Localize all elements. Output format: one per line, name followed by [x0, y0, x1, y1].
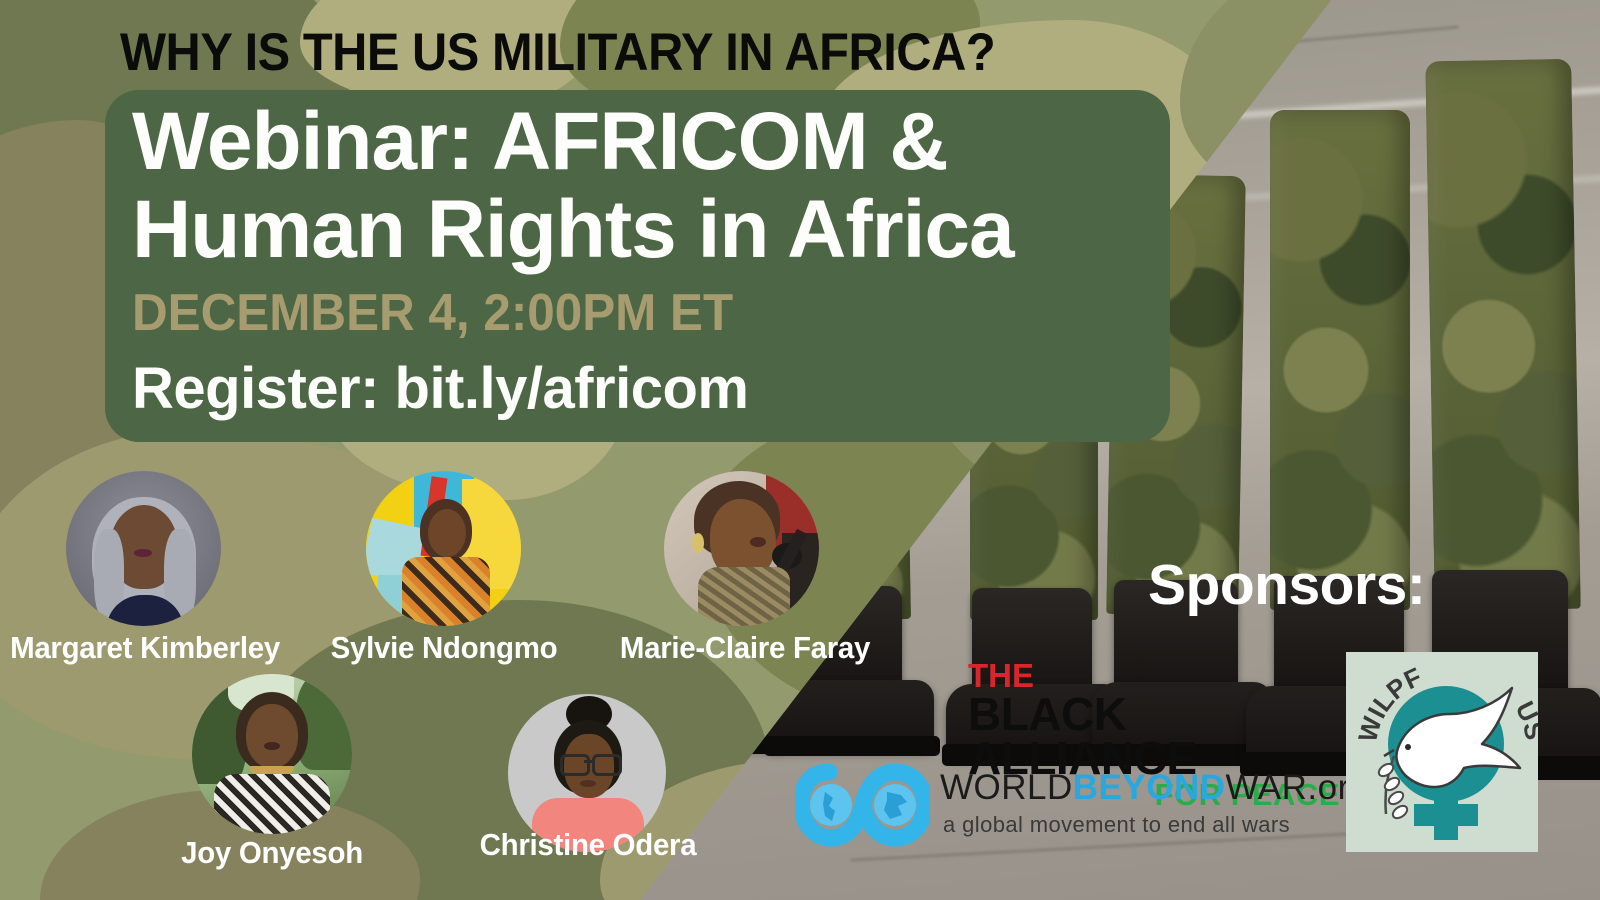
sponsor-logo-wilpf-us: WILPF US — [1346, 652, 1538, 852]
speaker-name: Sylvie Ndongmo — [306, 630, 582, 666]
avatar — [192, 674, 352, 834]
registration-link[interactable]: Register: bit.ly/africom — [132, 355, 748, 422]
wbw-word-world: WORLD — [940, 768, 1073, 807]
sponsors-heading: Sponsors: — [1148, 552, 1425, 618]
wbw-wordmark: WORLDBEYONDWAR.org — [940, 768, 1370, 808]
webinar-poster: WHY IS THE US MILITARY IN AFRICA? Webina… — [0, 0, 1600, 900]
speaker-name: Marie-Claire Faray — [607, 630, 883, 666]
bap-line-main: BLACK ALLIANCE — [968, 692, 1340, 780]
event-info-panel: Webinar: AFRICOM & Human Rights in Afric… — [105, 90, 1170, 442]
event-datetime: DECEMBER 4, 2:00PM ET — [132, 283, 733, 343]
event-title-line-1: Webinar: AFRICOM & — [132, 98, 1152, 186]
wbw-word-beyond: BEYOND — [1073, 768, 1226, 807]
speaker-name: Joy Onyesoh — [134, 835, 410, 871]
wbw-tagline: a global movement to end all wars — [943, 812, 1290, 838]
avatar — [664, 471, 819, 626]
speaker-name: Margaret Kimberley — [7, 630, 283, 666]
svg-text:US: US — [1510, 697, 1538, 743]
event-title: Webinar: AFRICOM & Human Rights in Afric… — [132, 98, 1152, 273]
bap-line-the: THE — [968, 660, 1340, 692]
infinity-globe-icon — [795, 762, 930, 847]
speaker-name: Christine Odera — [450, 827, 726, 863]
avatar — [66, 471, 221, 626]
page-title: WHY IS THE US MILITARY IN AFRICA? — [120, 22, 995, 83]
event-title-line-2: Human Rights in Africa — [132, 186, 1152, 274]
avatar — [366, 471, 521, 626]
